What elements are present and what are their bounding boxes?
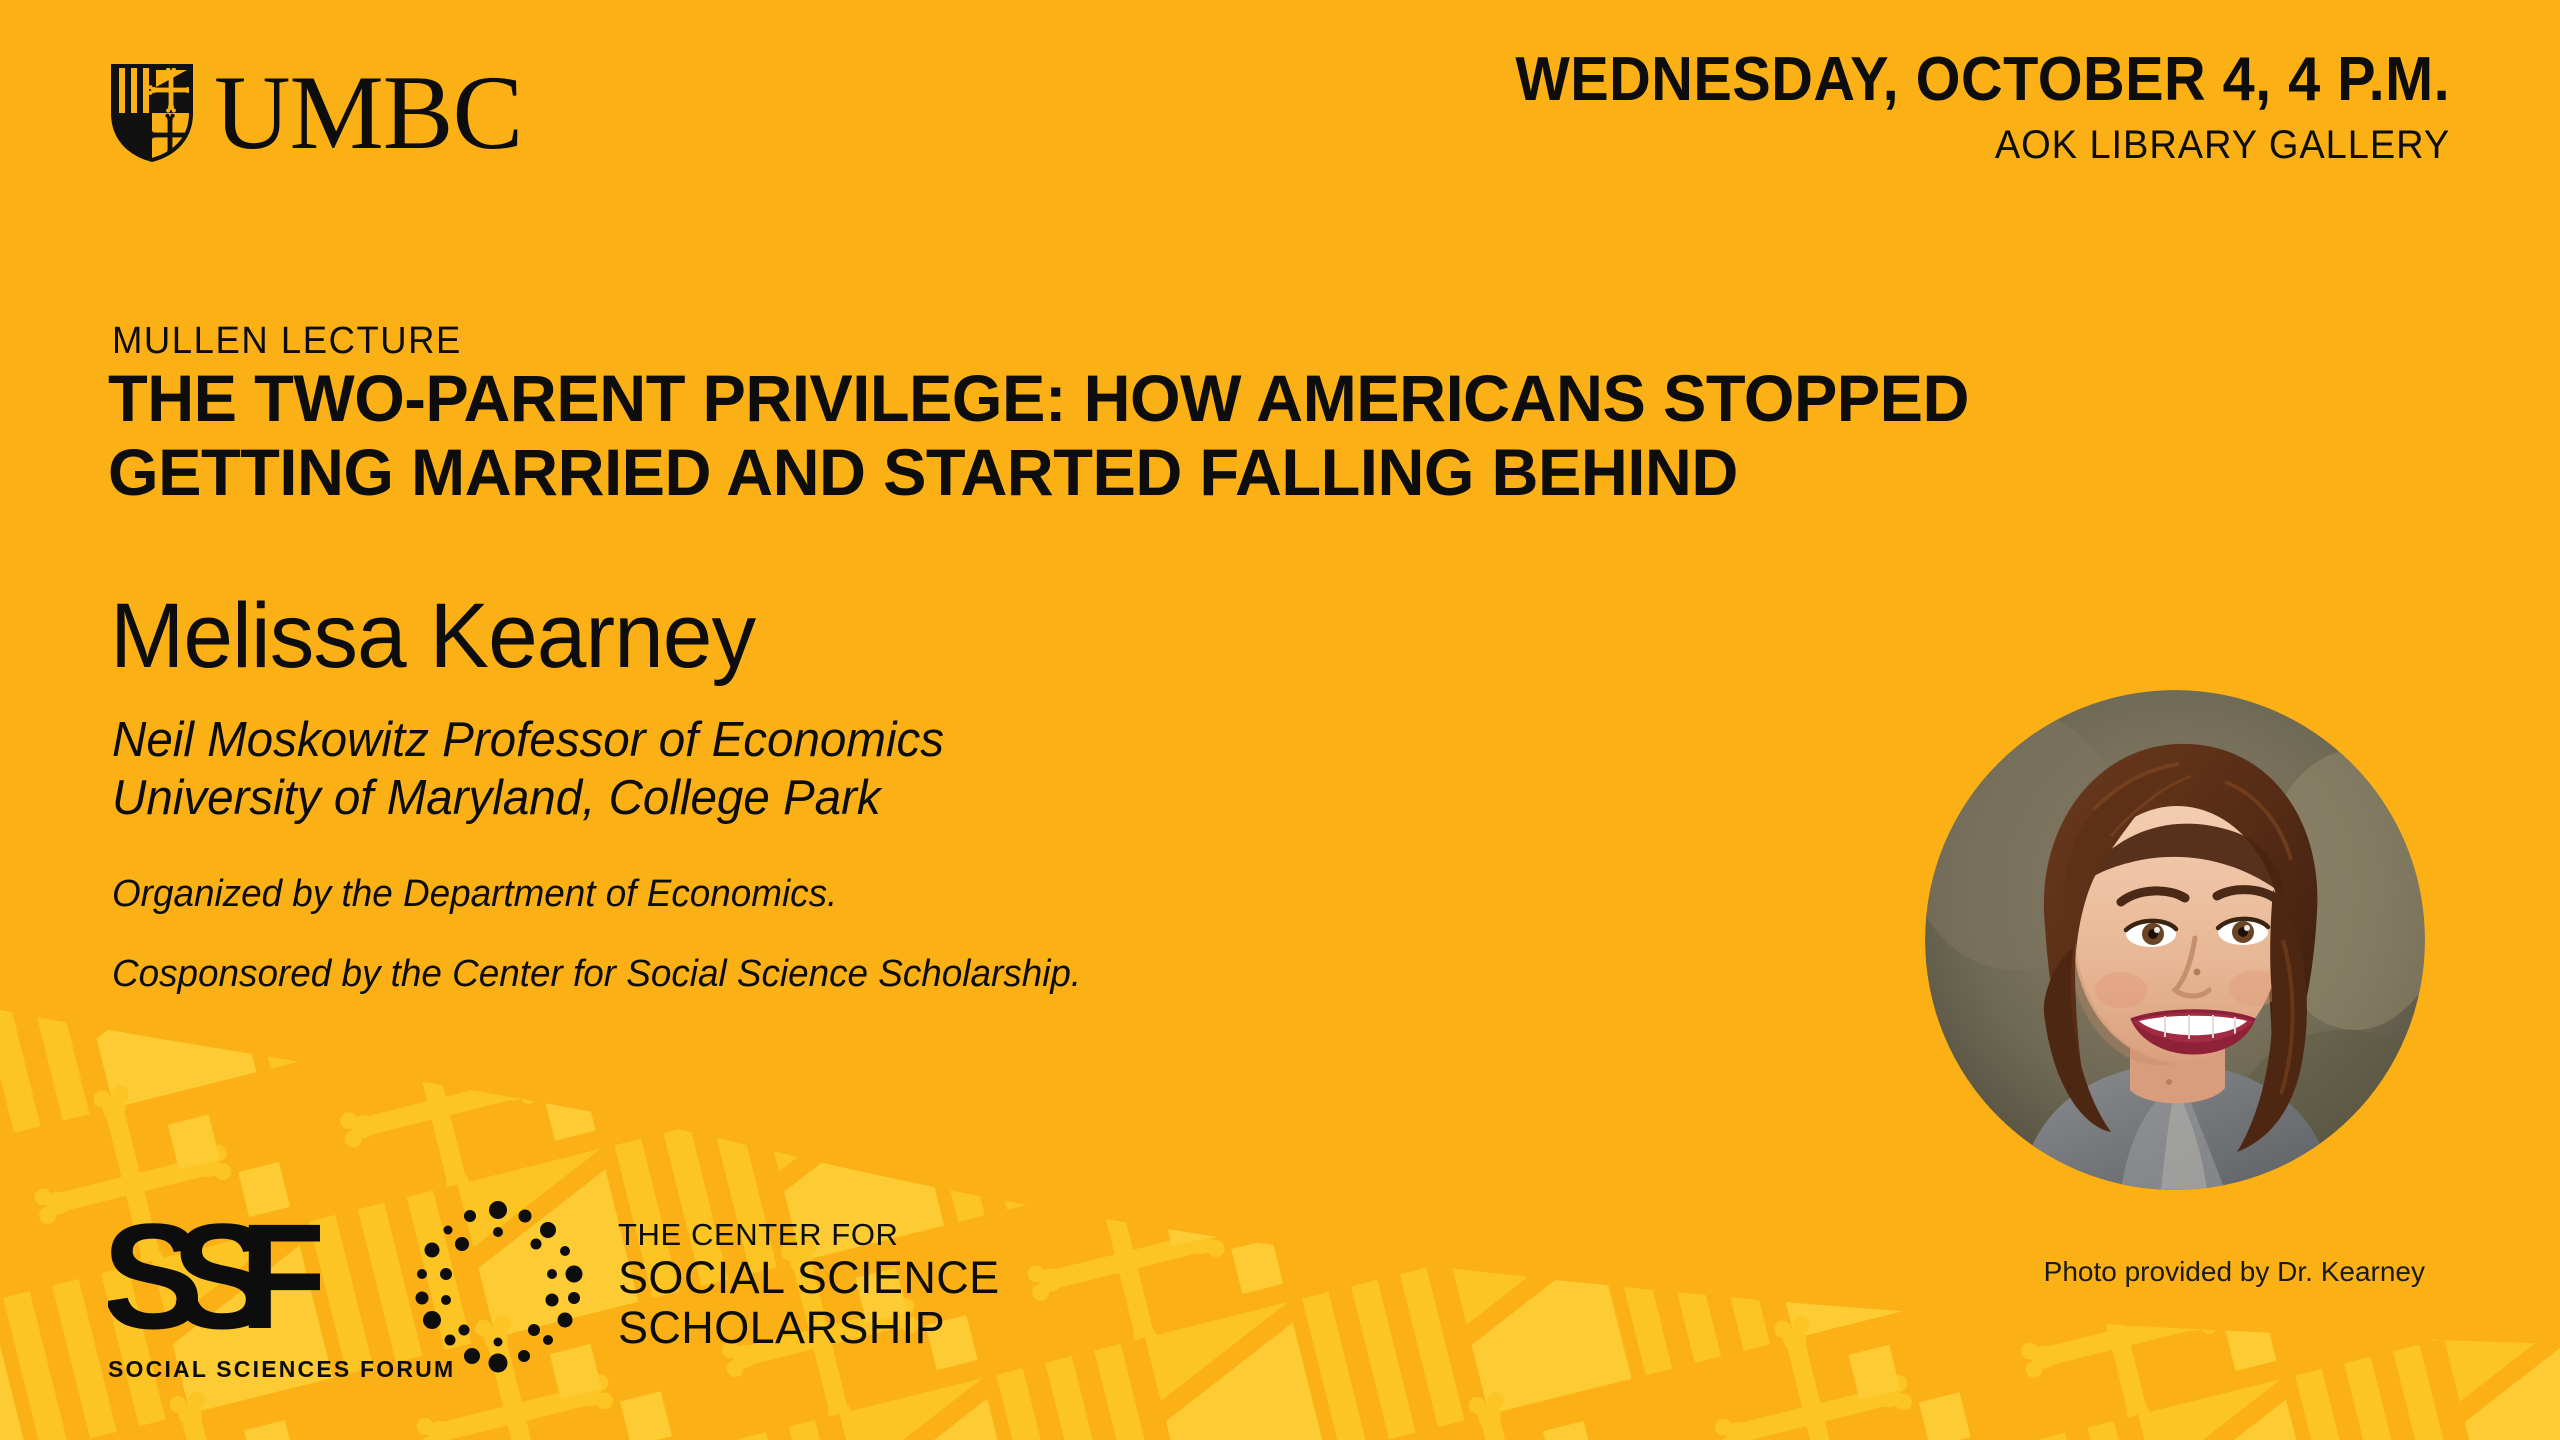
cssp-wordmark: THE CENTER FOR SOCIAL SCIENCE SCHOLARSHI… <box>618 1218 1000 1354</box>
melissa-kearney-headshot-image <box>1925 690 2425 1190</box>
speaker-name: Melissa Kearney <box>110 590 755 682</box>
speaker-affiliation: Neil Moskowitz Professor of Economics Un… <box>112 712 944 828</box>
dotted-circle-icon <box>408 1196 588 1376</box>
social-sciences-forum-logo: S S F SOCIAL SCIENCES FORUM <box>108 1200 348 1383</box>
cssp-line-2: SOCIAL SCIENCE <box>618 1253 1000 1303</box>
speaker-institution: University of Maryland, College Park <box>112 770 944 828</box>
cssp-line-3: SCHOLARSHIP <box>618 1303 1000 1353</box>
ssf-monogram-icon: S S F <box>108 1200 320 1350</box>
photo-credit: Photo provided by Dr. Kearney <box>1955 1256 2425 1288</box>
event-date: WEDNESDAY, OCTOBER 4, 4 P.M. <box>1515 48 2450 111</box>
cosponsored-by-line: Cosponsored by the Center for Social Sci… <box>112 952 1081 998</box>
speaker-title: Neil Moskowitz Professor of Economics <box>112 712 944 770</box>
center-for-social-science-scholarship-logo: THE CENTER FOR SOCIAL SCIENCE SCHOLARSHI… <box>408 1196 1000 1376</box>
event-venue: AOK LIBRARY GALLERY <box>1495 123 2450 167</box>
organized-by-line: Organized by the Department of Economics… <box>112 872 837 918</box>
umbc-logo: UMBC <box>108 60 522 166</box>
maryland-flag-shield-icon <box>108 61 196 165</box>
ssf-label: SOCIAL SCIENCES FORUM <box>108 1356 348 1383</box>
svg-text:F: F <box>239 1200 320 1350</box>
speaker-portrait <box>1925 690 2425 1190</box>
page-title: THE TWO-PARENT PRIVILEGE: HOW AMERICANS … <box>108 362 2433 510</box>
cssp-line-1: THE CENTER FOR <box>618 1218 1000 1253</box>
event-datetime-block: WEDNESDAY, OCTOBER 4, 4 P.M. AOK LIBRARY… <box>1445 48 2450 167</box>
page-title-line-2: GETTING MARRIED AND STARTED FALLING BEHI… <box>108 436 2433 510</box>
umbc-wordmark: UMBC <box>214 60 522 166</box>
event-poster: UMBC WEDNESDAY, OCTOBER 4, 4 P.M. AOK LI… <box>0 0 2560 1440</box>
page-title-line-1: THE TWO-PARENT PRIVILEGE: HOW AMERICANS … <box>108 362 2433 436</box>
lecture-series-label: MULLEN LECTURE <box>112 320 462 363</box>
